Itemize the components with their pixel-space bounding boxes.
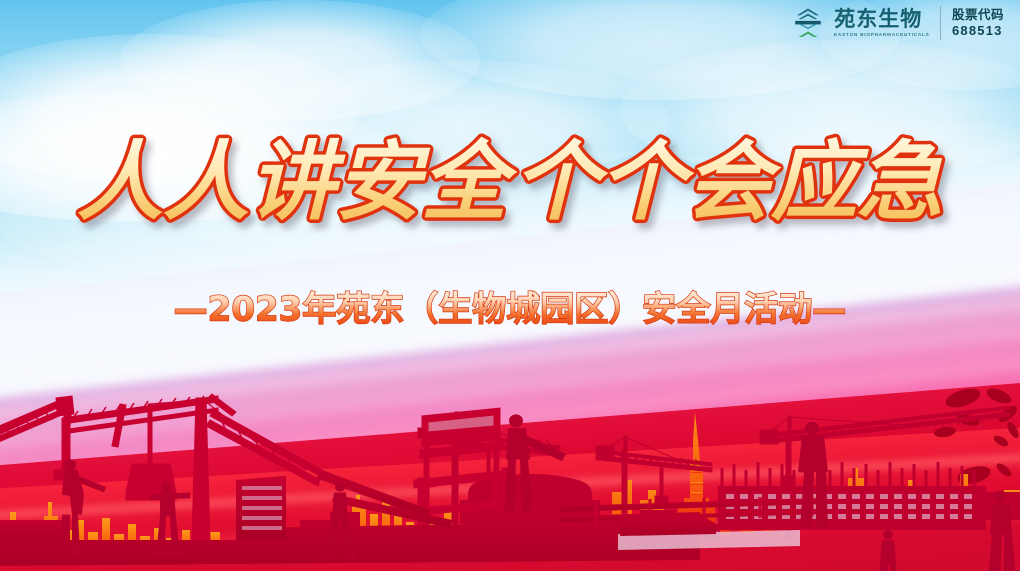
brand-logo-bar[interactable]: 苑东生物 EASTON BIOPHARMACEUTICALS 股票代码 6885… bbox=[791, 6, 1004, 40]
subtitle-block: —2023年苑东（生物城园区）安全月活动— bbox=[0, 283, 1020, 335]
easton-leaf-chevron-logo-icon bbox=[791, 6, 825, 40]
stock-code-label: 股票代码 bbox=[952, 9, 1004, 22]
headline-block: 人人讲安全 个个会应急 bbox=[0, 132, 1020, 242]
brand-name-en: EASTON BIOPHARMACEUTICALS bbox=[834, 33, 930, 38]
stock-code-block: 股票代码 688513 bbox=[952, 9, 1004, 38]
brand-name-cn: 苑东生物 bbox=[834, 9, 928, 30]
safety-month-poster: svg[data-name="foreground-construction-s… bbox=[0, 0, 1020, 571]
svg-text:人人讲安全: 人人讲安全 bbox=[77, 132, 518, 232]
svg-text:—2023年苑东（生物城园区）安全月活动—: —2023年苑东（生物城园区）安全月活动— bbox=[174, 290, 847, 330]
brand-name-block: 苑东生物 EASTON BIOPHARMACEUTICALS bbox=[834, 9, 928, 38]
svg-text:个个会应急: 个个会应急 bbox=[513, 132, 943, 232]
subtitle-text: —2023年苑东（生物城园区）安全月活动— bbox=[100, 283, 920, 335]
brand-divider bbox=[940, 6, 941, 40]
headline-text: 人人讲安全 个个会应急 bbox=[60, 132, 960, 242]
stock-code-value: 688513 bbox=[952, 24, 1004, 37]
